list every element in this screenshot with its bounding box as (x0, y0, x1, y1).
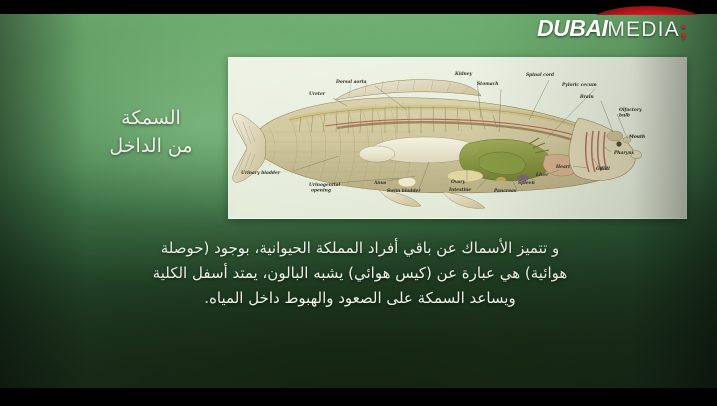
diagram-label: Urinogenital (309, 183, 341, 188)
logo-wordmark: DUBAIMEDIA; (537, 15, 709, 41)
diagram-label: Ureter (309, 92, 326, 97)
diagram-label: Intestine (448, 188, 471, 193)
program-title: السمكة من الداخل (86, 104, 216, 160)
logo-accent-mark: ; (680, 18, 687, 41)
diagram-label: bulb (619, 114, 630, 119)
diagram-label: Stomach (477, 82, 498, 87)
diagram-label: Pyloric cecum (561, 83, 597, 88)
channel-logo: DUBAIMEDIA; (535, 3, 711, 45)
explanatory-paragraph: و تتميز الأسماك عن باقي أفراد المملكة ال… (100, 236, 620, 311)
letterbox-bottom (0, 388, 717, 406)
diagram-label: Ovary (451, 180, 466, 185)
diagram-label: Mouth (628, 135, 645, 140)
broadcast-screen: السمكة من الداخل (0, 0, 717, 406)
diagram-label: Pancreas (493, 189, 517, 194)
paragraph-line-3: ويساعد السمكة على الصعود والهبوط داخل ال… (100, 286, 620, 311)
diagram-label: Liver (535, 173, 549, 178)
diagram-label: Swim bladder (387, 189, 421, 194)
diagram-label: Spleen (518, 181, 535, 186)
diagram-label: Pharynx (613, 151, 634, 156)
paragraph-line-1: و تتميز الأسماك عن باقي أفراد المملكة ال… (100, 236, 620, 261)
diagram-label: Heart (555, 165, 570, 170)
diagram-label: Dorsal aorta (335, 80, 367, 85)
diagram-label: Urinary bladder (241, 171, 281, 176)
program-title-line-1: السمكة (121, 107, 181, 129)
diagram-label: Gill (596, 167, 605, 172)
diagram-label: Brain (579, 95, 594, 100)
logo-secondary-text: MEDIA (607, 18, 680, 41)
diagram-label: Kidney (454, 72, 473, 77)
diagram-label: Anus (373, 181, 387, 186)
fish-anatomy-diagram: Dorsal aortaUreterKidneyStomachSpinal co… (228, 57, 687, 219)
logo-primary-text: DUBAI (537, 15, 607, 41)
diagram-label: opening (311, 189, 331, 194)
paragraph-line-2: هوائية) هي عبارة عن (كيس هوائي) يشبه الب… (100, 261, 620, 286)
diagram-label: Olfactory (619, 108, 642, 113)
program-title-line-2: من الداخل (86, 132, 216, 160)
diagram-label: Spinal cord (526, 73, 554, 78)
